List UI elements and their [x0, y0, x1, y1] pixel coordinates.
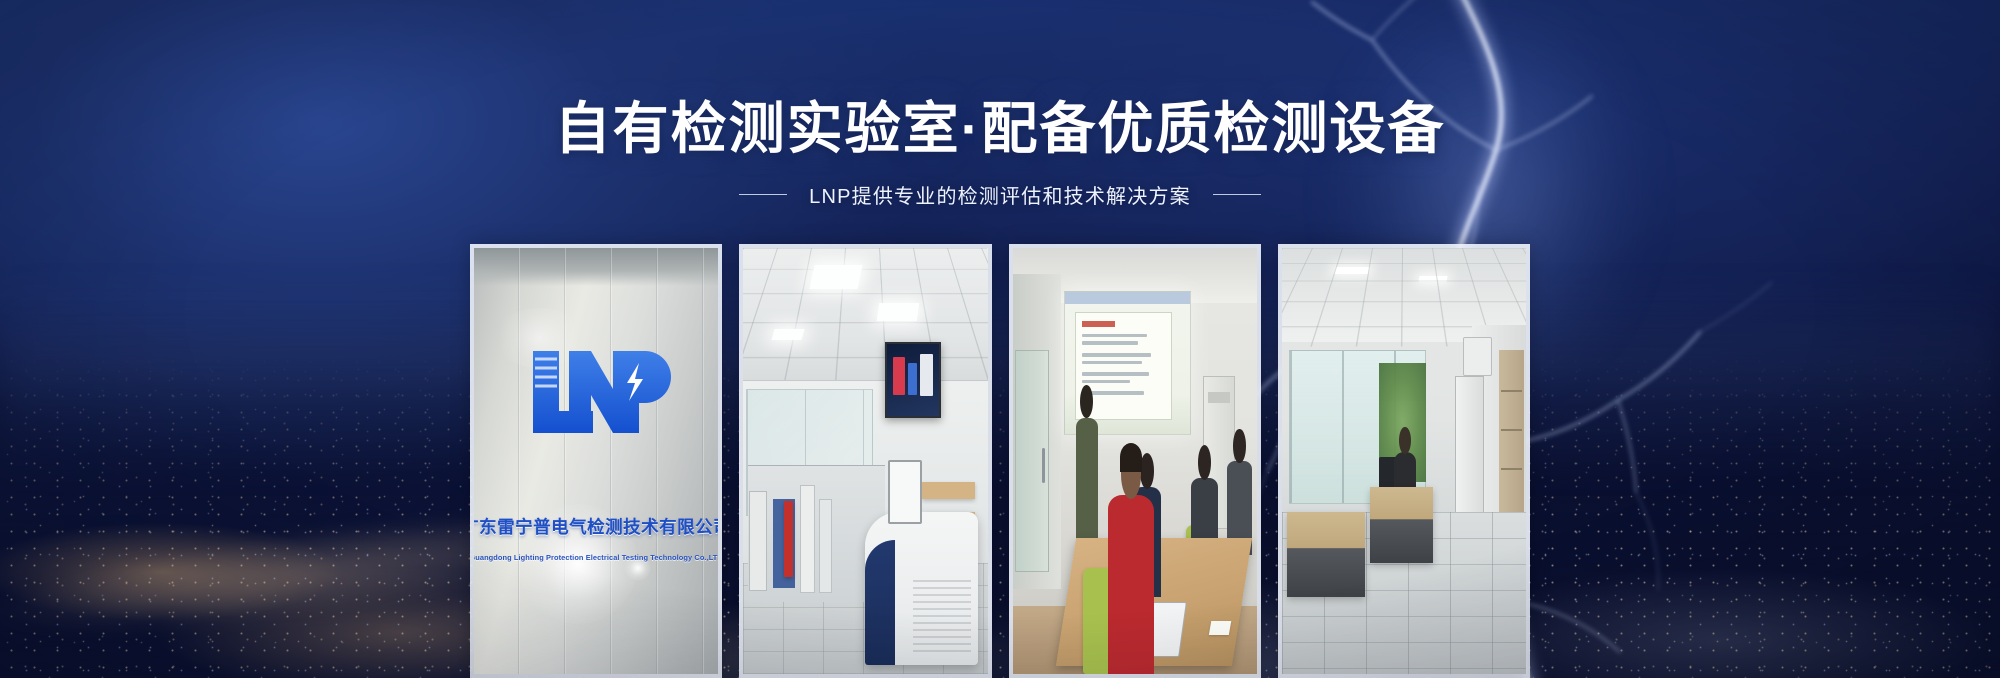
photo-high-voltage-lab	[743, 248, 987, 674]
lnp-logo-icon	[521, 337, 671, 441]
meeting-door	[1015, 350, 1049, 572]
subtitle-rule-left	[739, 194, 787, 195]
wall-company-name-en: Guangdong Lighting Protection Electrical…	[474, 553, 718, 562]
lab-ceiling	[743, 248, 987, 380]
photo-meeting-room	[1013, 248, 1257, 674]
office-shelf	[1499, 350, 1523, 529]
wall-company-name-cn: 广东雷宁普电气检测技术有限公司	[474, 514, 718, 539]
photo-card-reception[interactable]: 广东雷宁普电气检测技术有限公司 Guangdong Lighting Prote…	[470, 244, 722, 678]
lab-test-equipment	[748, 465, 885, 601]
subtitle-rule-right	[1213, 194, 1261, 195]
photo-card-office[interactable]	[1278, 244, 1530, 678]
lab-wall-monitor	[885, 342, 941, 419]
lab-desk-1	[922, 482, 976, 499]
banner-headline: 自有检测实验室·配备优质检测设备	[0, 96, 2000, 162]
lab-control-console	[865, 512, 977, 665]
lab-ceiling-light-2	[876, 303, 919, 321]
office-cabinet	[1455, 376, 1484, 521]
photo-card-meeting[interactable]	[1009, 244, 1261, 678]
photo-strip: 广东雷宁普电气检测技术有限公司 Guangdong Lighting Prote…	[470, 244, 1530, 678]
subtitle-row: LNP提供专业的检测评估和技术解决方案	[0, 180, 2000, 209]
photo-card-laboratory[interactable]	[739, 244, 991, 678]
hero-banner: 自有检测实验室·配备优质检测设备 LNP提供专业的检测评估和技术解决方案	[0, 0, 2000, 678]
office-desk-1	[1287, 512, 1365, 597]
banner-subtitle: LNP提供专业的检测评估和技术解决方案	[809, 180, 1191, 209]
attendee-red-jacket	[1108, 495, 1154, 674]
air-conditioner-icon	[1463, 337, 1492, 375]
lab-ceiling-light-1	[809, 265, 862, 289]
office-desk-2	[1370, 487, 1434, 564]
photo-open-office	[1282, 248, 1526, 674]
headline-block: 自有检测实验室·配备优质检测设备 LNP提供专业的检测评估和技术解决方案	[0, 96, 2000, 209]
meeting-paper-2	[1209, 621, 1231, 635]
photo-reception-wall: 广东雷宁普电气检测技术有限公司 Guangdong Lighting Prote…	[474, 248, 718, 674]
lab-ceiling-light-3	[771, 329, 804, 340]
